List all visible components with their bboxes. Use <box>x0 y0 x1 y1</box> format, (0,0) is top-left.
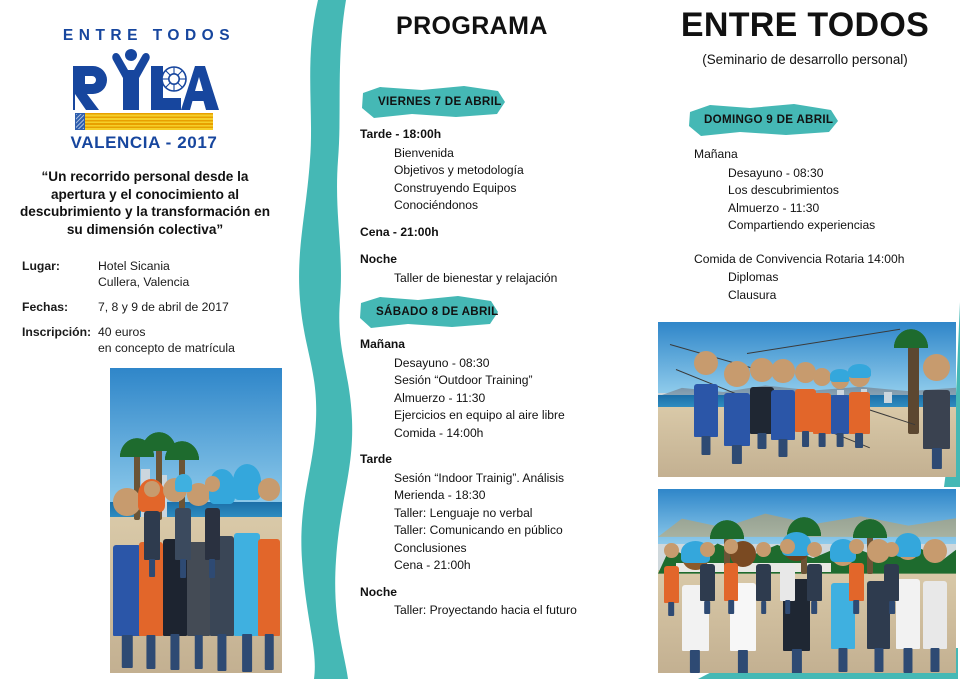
schedule-viernes: Tarde - 18:00h Bienvenida Objetivos y me… <box>360 126 640 287</box>
schedule-block-head: Comida de Convivencia Rotaria 14:00h <box>694 251 949 269</box>
event-details: Lugar: Hotel Sicania Cullera, Valencia F… <box>22 258 280 365</box>
schedule-item: Taller: Lenguaje no verbal <box>394 505 645 523</box>
detail-label: Inscripción: <box>22 324 98 356</box>
schedule-item: Cena - 21:00h <box>394 557 645 575</box>
schedule-block-head: Noche <box>360 251 640 269</box>
schedule-item: Conociéndonos <box>394 197 640 215</box>
brochure-page: ENTRE TODOS <box>0 0 960 679</box>
schedule-item: Construyendo Equipos <box>394 180 640 198</box>
schedule-block-head: Mañana <box>360 336 645 354</box>
schedule-sabado: Mañana Desayuno - 08:30 Sesión “Outdoor … <box>360 336 645 620</box>
detail-value-line: Hotel Sicania <box>98 258 280 274</box>
logo-top-text: ENTRE TODOS <box>10 28 288 44</box>
banner-sabado: SÁBADO 8 DE ABRIL <box>358 294 519 329</box>
detail-value-line: 7, 8 y 9 de abril de 2017 <box>98 299 280 315</box>
schedule-domingo: Mañana Desayuno - 08:30 Los descubrimien… <box>694 146 949 304</box>
schedule-item: Compartiendo experiencias <box>728 217 949 235</box>
schedule-block-head: Tarde - 18:00h <box>360 126 640 144</box>
schedule-item: Ejercicios en equipo al aire libre <box>394 407 645 425</box>
schedule-item: Diplomas <box>728 269 949 287</box>
photo-team-handshake <box>110 368 282 673</box>
valencia-flag-icon <box>75 113 213 130</box>
banner-domingo-label: DOMINGO 9 DE ABRIL <box>704 113 833 126</box>
page-subtitle: (Seminario de desarrollo personal) <box>650 52 960 67</box>
photo-warmup-circle <box>658 489 956 673</box>
schedule-item: Almuerzo - 11:30 <box>728 200 949 218</box>
photo-rope-activity <box>658 322 956 477</box>
detail-value: 7, 8 y 9 de abril de 2017 <box>98 299 280 315</box>
middle-column: PROGRAMA VIERNES 7 DE ABRIL Tarde - 18:0… <box>356 0 648 679</box>
schedule-block-head: Noche <box>360 584 645 602</box>
detail-value-line: en concepto de matrícula <box>98 340 280 356</box>
detail-label: Lugar: <box>22 258 98 290</box>
schedule-block-head: Mañana <box>694 146 949 164</box>
detail-row-lugar: Lugar: Hotel Sicania Cullera, Valencia <box>22 258 280 290</box>
schedule-item: Comida - 14:00h <box>394 425 645 443</box>
seminar-quote: “Un recorrido personal desde la apertura… <box>14 168 276 239</box>
schedule-item: Almuerzo - 11:30 <box>394 390 645 408</box>
schedule-item: Desayuno - 08:30 <box>728 165 949 183</box>
schedule-block-head: Cena - 21:00h <box>360 224 640 242</box>
schedule-item: Desayuno - 08:30 <box>394 355 645 373</box>
programa-heading: PROGRAMA <box>396 12 548 41</box>
schedule-item: Sesión “Indoor Trainig”. Análisis <box>394 470 645 488</box>
schedule-item: Merienda - 18:30 <box>394 487 645 505</box>
detail-row-fechas: Fechas: 7, 8 y 9 de abril de 2017 <box>22 299 280 315</box>
banner-domingo: DOMINGO 9 DE ABRIL <box>686 102 851 137</box>
banner-viernes-label: VIERNES 7 DE ABRIL <box>378 95 502 108</box>
logo-bottom-text: VALENCIA - 2017 <box>0 133 288 153</box>
left-column: ENTRE TODOS <box>0 0 288 679</box>
ryla-wordmark-icon <box>69 48 219 110</box>
schedule-item: Conclusiones <box>394 540 645 558</box>
schedule-item: Taller: Comunicando en público <box>394 522 645 540</box>
schedule-block-head: Tarde <box>360 451 645 469</box>
schedule-item: Sesión “Outdoor Training” <box>394 372 645 390</box>
detail-value-line: Cullera, Valencia <box>98 274 280 290</box>
right-column: ENTRE TODOS (Seminario de desarrollo per… <box>650 0 960 679</box>
detail-label: Fechas: <box>22 299 98 315</box>
schedule-item: Taller de bienestar y relajación <box>394 270 640 288</box>
detail-value-line: 40 euros <box>98 324 280 340</box>
detail-value: 40 euros en concepto de matrícula <box>98 324 280 356</box>
schedule-item: Clausura <box>728 287 949 305</box>
schedule-item: Los descubrimientos <box>728 182 949 200</box>
detail-value: Hotel Sicania Cullera, Valencia <box>98 258 280 290</box>
schedule-item: Objetivos y metodología <box>394 162 640 180</box>
schedule-item: Bienvenida <box>394 145 640 163</box>
schedule-item: Taller: Proyectando hacia el futuro <box>394 602 645 620</box>
page-title: ENTRE TODOS <box>650 6 960 45</box>
detail-row-inscripcion: Inscripción: 40 euros en concepto de mat… <box>22 324 280 356</box>
banner-viernes: VIERNES 7 DE ABRIL <box>360 84 522 119</box>
banner-sabado-label: SÁBADO 8 DE ABRIL <box>376 305 499 318</box>
teal-wave-divider <box>288 0 360 679</box>
ryla-logo: ENTRE TODOS <box>0 28 288 153</box>
